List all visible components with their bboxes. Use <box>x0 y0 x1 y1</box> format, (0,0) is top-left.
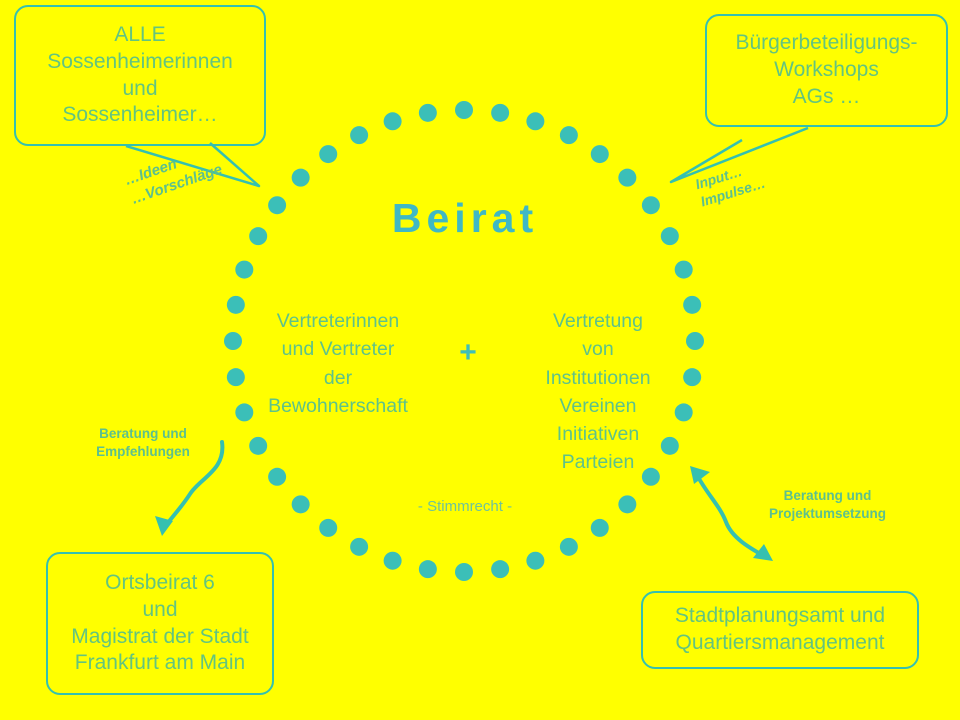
callout-residents[interactable]: ALLE Sossenheimerinnen und Sossenheimer… <box>14 5 266 146</box>
voting-rights-note: - Stimmrecht - <box>330 498 600 515</box>
callout-workshops[interactable]: Bürgerbeteiligungs- Workshops AGs … <box>705 14 948 127</box>
plus-icon: + <box>446 307 490 374</box>
callout-workshops-text: Bürgerbeteiligungs- Workshops AGs … <box>707 30 946 111</box>
callout-residents-text: ALLE Sossenheimerinnen und Sossenheimer… <box>16 22 264 130</box>
flow-label-beratung-projektumsetzung: Beratung und Projektumsetzung <box>745 487 910 522</box>
callout-ortsbeirat[interactable]: Ortsbeirat 6 und Magistrat der Stadt Fra… <box>46 552 274 695</box>
page-title: Beirat <box>232 196 698 241</box>
column-residents-representatives: Vertreterinnen und Vertreter der Bewohne… <box>248 307 428 420</box>
callout-stadtplanung[interactable]: Stadtplanungsamt und Quartiersmanagement <box>641 591 919 669</box>
column-institution-representatives: Vertretung von Institutionen Vereinen In… <box>508 307 688 477</box>
diagram-canvas: ALLE Sossenheimerinnen und Sossenheimer…… <box>0 0 960 720</box>
flow-label-beratung-empfehlungen: Beratung und Empfehlungen <box>78 425 208 460</box>
callout-ortsbeirat-text: Ortsbeirat 6 und Magistrat der Stadt Fra… <box>48 570 272 678</box>
membership-columns: Vertreterinnen und Vertreter der Bewohne… <box>248 307 688 477</box>
callout-stadtplanung-text: Stadtplanungsamt und Quartiersmanagement <box>643 603 917 657</box>
center-group: Beirat <box>232 196 698 241</box>
